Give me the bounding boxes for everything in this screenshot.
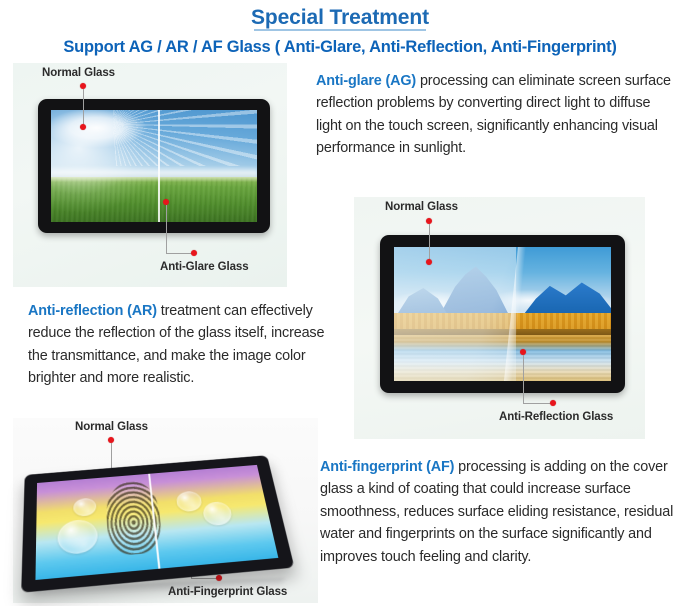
reflection-washout-overlay [394,247,516,381]
anti-glare-glass-label: Anti-Glare Glass [160,261,249,273]
anti-reflection-lead: Anti-reflection (AR) [28,303,157,319]
anti-glare-glass-leader-h [166,253,194,254]
page-subtitle: Support AG / AR / AF Glass ( Anti-Glare,… [0,30,680,57]
anti-glare-glass-leader-v [166,205,167,253]
anti-reflection-tablet [380,235,625,393]
anti-fingerprint-lead: Anti-fingerprint (AF) [320,459,454,475]
anti-glare-tablet [38,99,270,233]
water-droplet-1 [57,518,98,555]
anti-reflection-glass-label: Anti-Reflection Glass [499,411,613,423]
anti-glare-image-panel: Normal Glass Anti-Glare Glass [13,63,287,287]
water-droplet-3 [175,491,203,512]
anti-reflection-normal-glass-leader [429,224,430,262]
anti-fingerprint-glass-leader-h [191,578,219,579]
anti-glare-normal-glass-label: Normal Glass [42,67,115,79]
page-header: Special Treatment Support AG / AR / AF G… [0,0,680,64]
anti-fingerprint-description: Anti-fingerprint (AF) processing is addi… [320,456,676,568]
anti-reflection-screen [394,247,611,381]
page-title: Special Treatment [251,0,429,30]
screen-split-divider [158,110,160,222]
anti-reflection-image-panel: Normal Glass Anti-Reflection Glass [354,197,645,439]
anti-glare-glass-dot-outer [191,250,197,256]
anti-reflection-glass-leader-v [523,355,524,403]
sun-rays [113,110,257,166]
grass-horizon [51,177,257,181]
anti-glare-description: Anti-glare (AG) processing can eliminate… [316,70,676,160]
anti-reflection-normal-glass-dot-inner [426,259,432,265]
anti-reflection-description: Anti-reflection (AR) treatment can effec… [28,300,340,390]
page-title-text: Special Treatment [251,6,429,29]
anti-reflection-normal-glass-label: Normal Glass [385,201,458,213]
anti-reflection-glass-dot-outer [550,400,556,406]
title-underline [254,29,426,31]
anti-reflection-glass-leader-h [523,403,553,404]
water-droplet-2 [73,498,97,518]
anti-glare-normal-glass-leader [83,89,84,127]
anti-glare-normal-glass-dot-inner [80,124,86,130]
anti-glare-lead: Anti-glare (AG) [316,73,416,89]
grass-field [51,177,257,222]
anti-fingerprint-normal-glass-label: Normal Glass [75,421,148,433]
